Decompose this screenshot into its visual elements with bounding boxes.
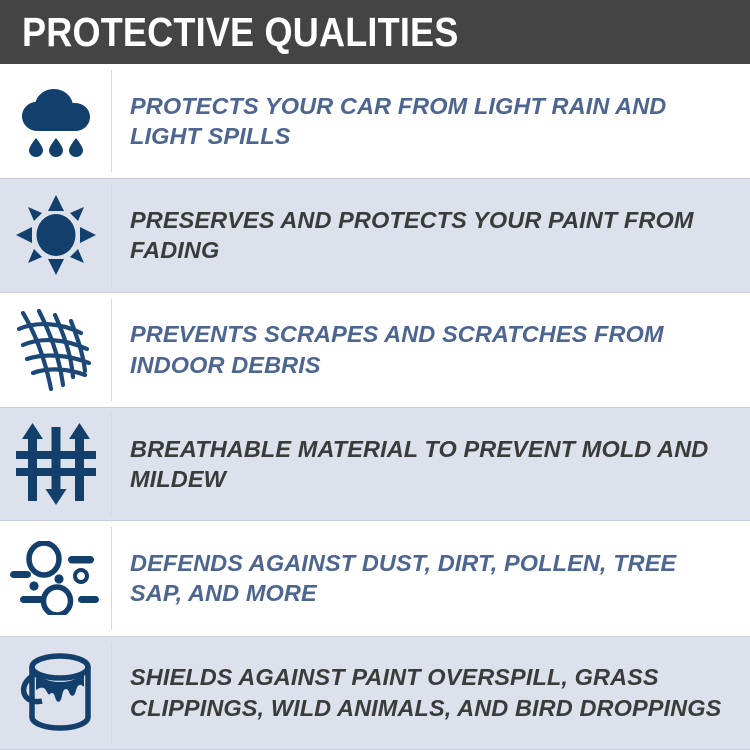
list-item-label: SHIELDS AGAINST PAINT OVERSPILL, GRASS C… (130, 662, 734, 723)
breathable-airflow-icon (16, 423, 96, 505)
page-title: PROTECTIVE QUALITIES (22, 12, 459, 53)
icon-cell (0, 407, 112, 521)
text-cell: PROTECTS YOUR CAR FROM LIGHT RAIN AND LI… (112, 64, 750, 178)
list-item: PREVENTS SCRAPES AND SCRATCHES FROM INDO… (0, 293, 750, 407)
icon-cell (0, 293, 112, 407)
list-item-label: DEFENDS AGAINST DUST, DIRT, POLLEN, TREE… (130, 548, 734, 609)
text-cell: PREVENTS SCRAPES AND SCRATCHES FROM INDO… (112, 293, 750, 407)
rain-cloud-icon (17, 83, 95, 159)
dust-particles-icon (10, 541, 102, 615)
list-item: PROTECTS YOUR CAR FROM LIGHT RAIN AND LI… (0, 64, 750, 178)
feature-list: PROTECTS YOUR CAR FROM LIGHT RAIN AND LI… (0, 64, 750, 750)
list-item-label: BREATHABLE MATERIAL TO PREVENT MOLD AND … (130, 434, 734, 495)
list-item: SHIELDS AGAINST PAINT OVERSPILL, GRASS C… (0, 636, 750, 750)
text-cell: SHIELDS AGAINST PAINT OVERSPILL, GRASS C… (112, 636, 750, 750)
icon-cell (0, 521, 112, 635)
list-item-label: PRESERVES AND PROTECTS YOUR PAINT FROM F… (130, 205, 734, 266)
list-item-label: PREVENTS SCRAPES AND SCRATCHES FROM INDO… (130, 319, 734, 380)
text-cell: PRESERVES AND PROTECTS YOUR PAINT FROM F… (112, 178, 750, 292)
list-item-label: PROTECTS YOUR CAR FROM LIGHT RAIN AND LI… (130, 91, 734, 152)
text-cell: BREATHABLE MATERIAL TO PREVENT MOLD AND … (112, 407, 750, 521)
list-item: BREATHABLE MATERIAL TO PREVENT MOLD AND … (0, 407, 750, 521)
icon-cell (0, 64, 112, 178)
icon-cell (0, 178, 112, 292)
header-bar: PROTECTIVE QUALITIES (0, 0, 750, 64)
protective-qualities-infographic: PROTECTIVE QUALITIES PROTECTS YOUR CAR F… (0, 0, 750, 750)
text-cell: DEFENDS AGAINST DUST, DIRT, POLLEN, TREE… (112, 521, 750, 635)
scratches-mesh-icon (15, 307, 97, 393)
icon-cell (0, 636, 112, 750)
list-item: DEFENDS AGAINST DUST, DIRT, POLLEN, TREE… (0, 521, 750, 635)
paint-can-icon (16, 651, 96, 735)
list-item: PRESERVES AND PROTECTS YOUR PAINT FROM F… (0, 178, 750, 292)
sun-icon (16, 195, 96, 275)
